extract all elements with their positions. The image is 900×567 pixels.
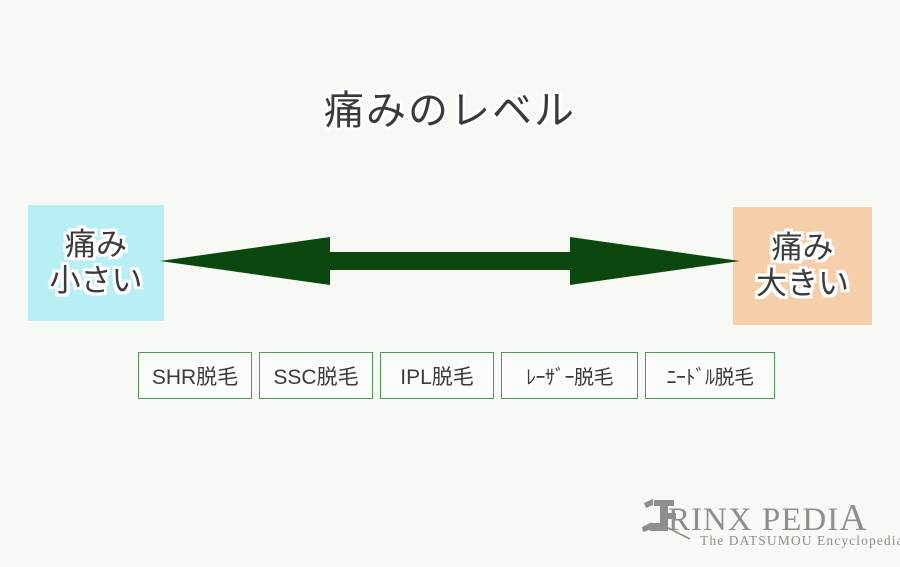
logo-subtitle: The DATSUMOU Encyclopedia bbox=[700, 533, 900, 549]
method-list: SHR脱毛 SSC脱毛 IPL脱毛 ﾚｰｻﾞｰ脱毛 ﾆｰﾄﾞﾙ脱毛 bbox=[138, 352, 764, 399]
method-label-ssc: SSC脱毛 bbox=[273, 361, 358, 391]
pain-scale-high-line2: 大きい bbox=[756, 266, 849, 302]
method-label-shr: SHR脱毛 bbox=[152, 361, 238, 391]
pain-scale-high-line1: 痛み bbox=[772, 230, 834, 266]
page-title: 痛みのレベル bbox=[0, 78, 900, 136]
double-arrow-icon bbox=[160, 230, 740, 292]
method-box-ssc[interactable]: SSC脱毛 bbox=[259, 352, 373, 399]
method-box-ipl[interactable]: IPL脱毛 bbox=[380, 352, 494, 399]
logo-wordmark: RINX PEDIA bbox=[668, 499, 868, 537]
logo: RINX PEDIA The DATSUMOU Encyclopedia bbox=[640, 497, 885, 557]
pain-scale-low-end: 痛み 小さい bbox=[28, 205, 164, 321]
method-box-needle[interactable]: ﾆｰﾄﾞﾙ脱毛 bbox=[645, 352, 775, 399]
pain-scale-high-end: 痛み 大きい bbox=[733, 207, 872, 325]
method-label-needle: ﾆｰﾄﾞﾙ脱毛 bbox=[667, 361, 754, 390]
method-box-shr[interactable]: SHR脱毛 bbox=[138, 352, 252, 399]
method-label-laser: ﾚｰｻﾞｰ脱毛 bbox=[526, 361, 613, 390]
pain-scale-low-line2: 小さい bbox=[50, 263, 143, 299]
method-label-ipl: IPL脱毛 bbox=[400, 361, 474, 391]
infographic-canvas: 痛みのレベル 痛み 小さい 痛み 大きい SHR脱毛 SSC脱毛 IPL脱毛 ﾚ… bbox=[0, 0, 900, 567]
method-box-laser[interactable]: ﾚｰｻﾞｰ脱毛 bbox=[501, 352, 638, 399]
pain-scale-low-line1: 痛み bbox=[65, 227, 127, 263]
